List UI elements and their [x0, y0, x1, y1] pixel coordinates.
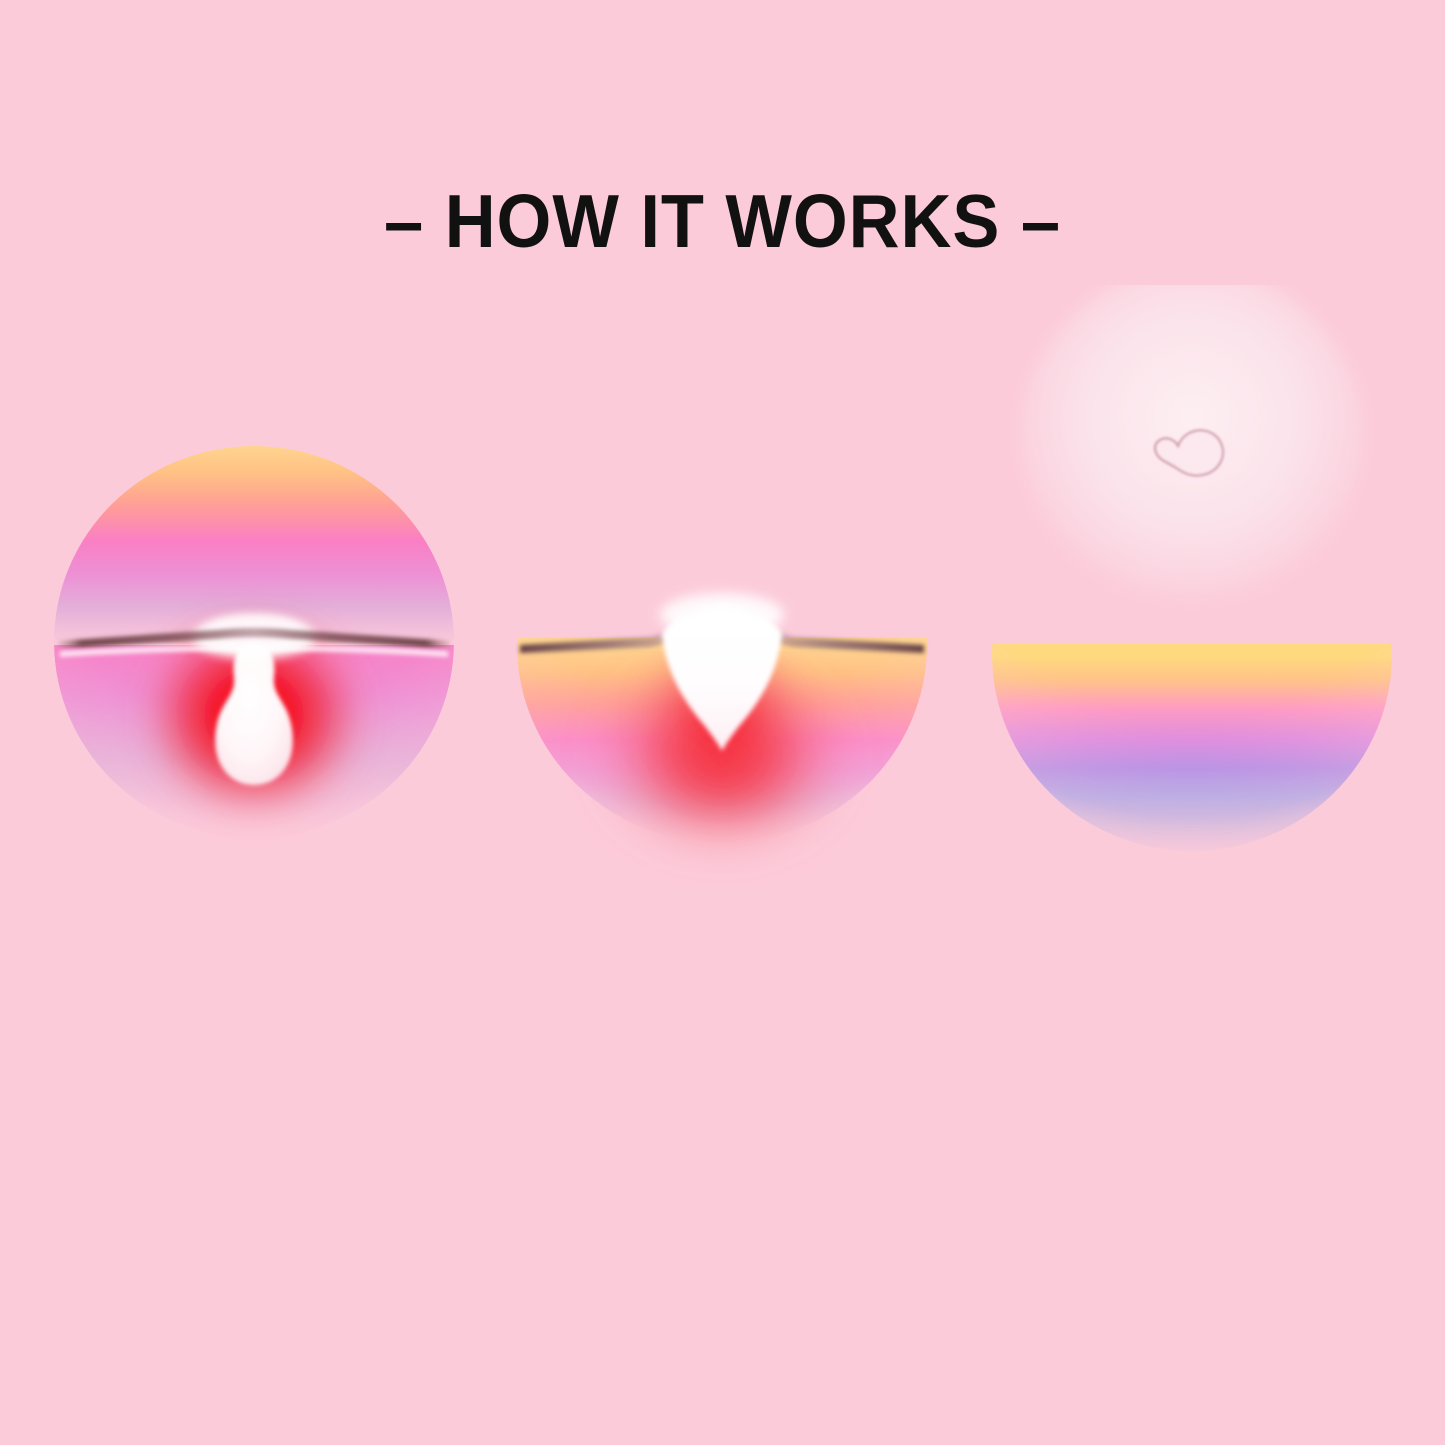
steps-section: 1 2 3 Absorbs Hydrocolloid draws out imp… [0, 928, 1445, 1348]
removed-patch-disc [1020, 285, 1364, 611]
illustration-band [0, 285, 1445, 885]
skin-layer [992, 643, 1392, 851]
page-title: – HOW IT WORKS – [43, 178, 1401, 264]
how-it-works-infographic: – HOW IT WORKS – [0, 0, 1445, 1445]
illustration-revives [968, 285, 1416, 885]
illustration-extracts [502, 285, 942, 885]
illustration-absorbs [34, 285, 474, 885]
